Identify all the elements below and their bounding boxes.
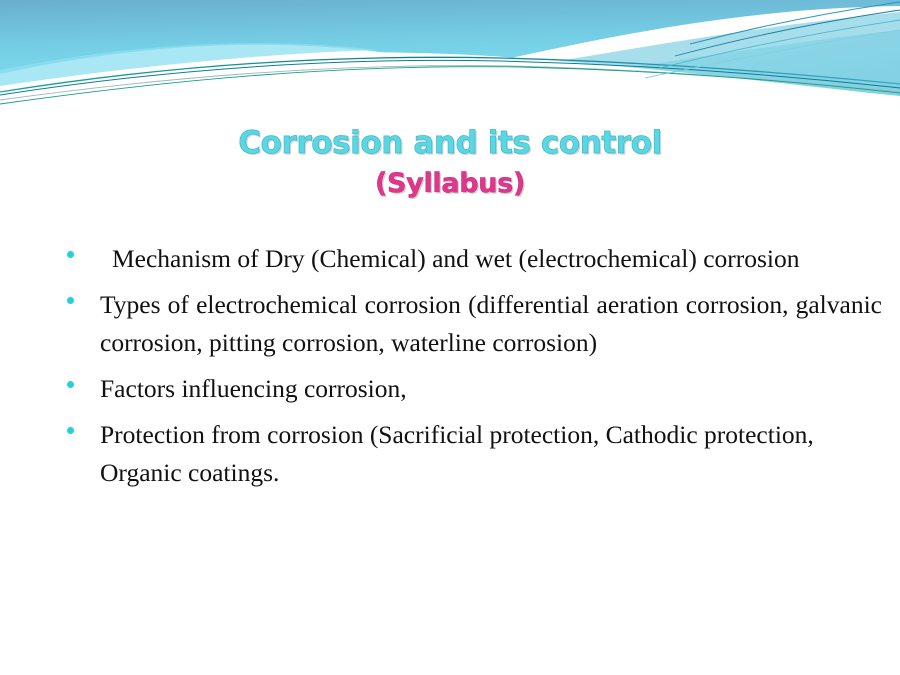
list-item: Types of electrochemical corrosion (diff… [58,286,882,362]
list-item-text: Mechanism of Dry (Chemical) and wet (ele… [112,244,800,273]
page-title: Corrosion and its control [0,124,900,162]
banner-line-right-2 [675,10,900,56]
banner-band-right-2 [0,30,900,115]
page-subtitle: (Syllabus) [0,166,900,202]
list-item-text: Protection from corrosion (Sacrificial p… [100,420,814,487]
banner-line-green [0,67,900,104]
banner-base-shape [0,0,900,81]
list-item-label: Protection from corrosion (Sacrificial p… [100,416,882,492]
list-item-text: Types of electrochemical corrosion (diff… [100,290,882,357]
banner-white-sweep-lower [0,52,900,115]
list-item: Protection from corrosion (Sacrificial p… [58,416,882,492]
bullet-dot-icon [58,416,100,434]
banner-white-sweep-upper [0,6,900,115]
banner-band-right-1 [0,12,900,115]
decorative-wave-banner [0,0,900,115]
bullet-dot-icon [58,286,100,304]
banner-line-right-3 [660,20,900,68]
syllabus-bullet-list: Mechanism of Dry (Chemical) and wet (ele… [58,240,882,500]
list-item-label: Factors influencing corrosion, [100,370,882,408]
list-item-text: Factors influencing corrosion, [100,374,407,403]
list-item-label: Types of electrochemical corrosion (diff… [100,286,882,362]
title-block: Corrosion and its control (Syllabus) [0,124,900,202]
banner-line-teal-2 [0,60,900,95]
banner-left-crest [0,43,380,86]
slide-canvas: Corrosion and its control (Syllabus) Mec… [0,0,900,675]
bullet-dot-icon [58,240,100,258]
banner-line-gray [0,66,900,100]
banner-line-right-4 [645,30,900,78]
list-item: Mechanism of Dry (Chemical) and wet (ele… [58,240,882,278]
banner-line-teal-1 [0,57,900,92]
list-item-label: Mechanism of Dry (Chemical) and wet (ele… [100,240,882,278]
bullet-dot-icon [58,370,100,388]
list-item: Factors influencing corrosion, [58,370,882,408]
banner-line-right-1 [690,2,900,44]
